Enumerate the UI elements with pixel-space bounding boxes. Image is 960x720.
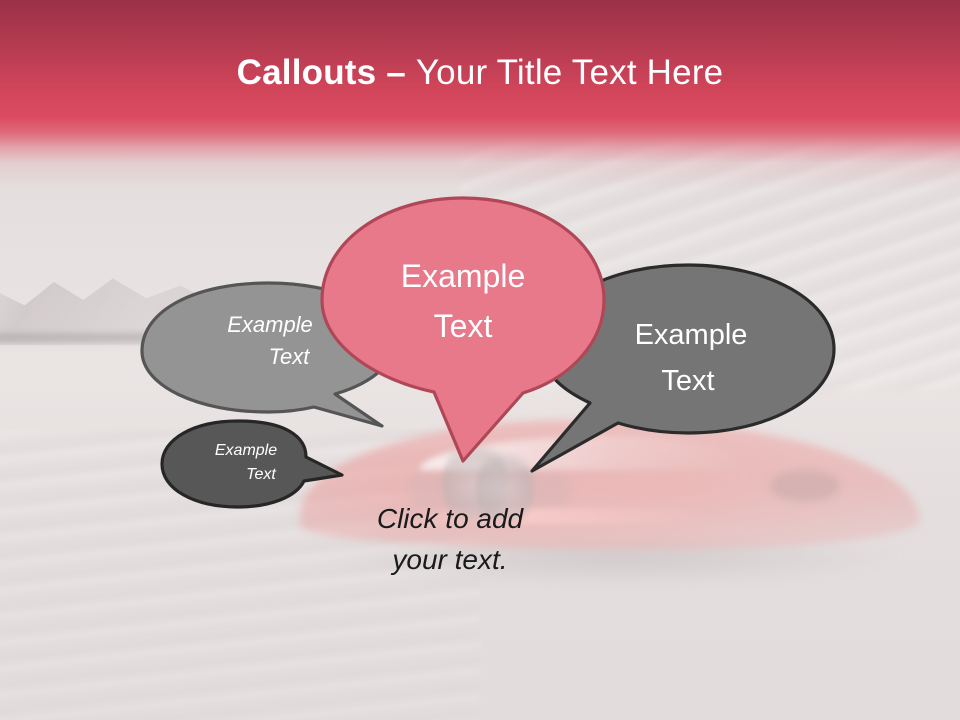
page-title: Callouts – Your Title Text Here (0, 52, 960, 94)
callout-small-shape (146, 419, 346, 514)
page-title-rest: Your Title Text Here (416, 53, 724, 92)
slide-canvas: Callouts – Your Title Text Here Example … (0, 0, 960, 720)
callout-small[interactable]: Example Text (146, 419, 346, 514)
page-title-strong: Callouts (237, 53, 377, 92)
body-text-line2: your text. (320, 539, 580, 580)
callout-center-shape (318, 196, 608, 466)
body-text-line1: Click to add (320, 498, 580, 539)
page-title-dash: – (376, 53, 416, 92)
body-placeholder-text[interactable]: Click to add your text. (320, 498, 580, 580)
callout-center[interactable]: Example Text (318, 196, 608, 466)
